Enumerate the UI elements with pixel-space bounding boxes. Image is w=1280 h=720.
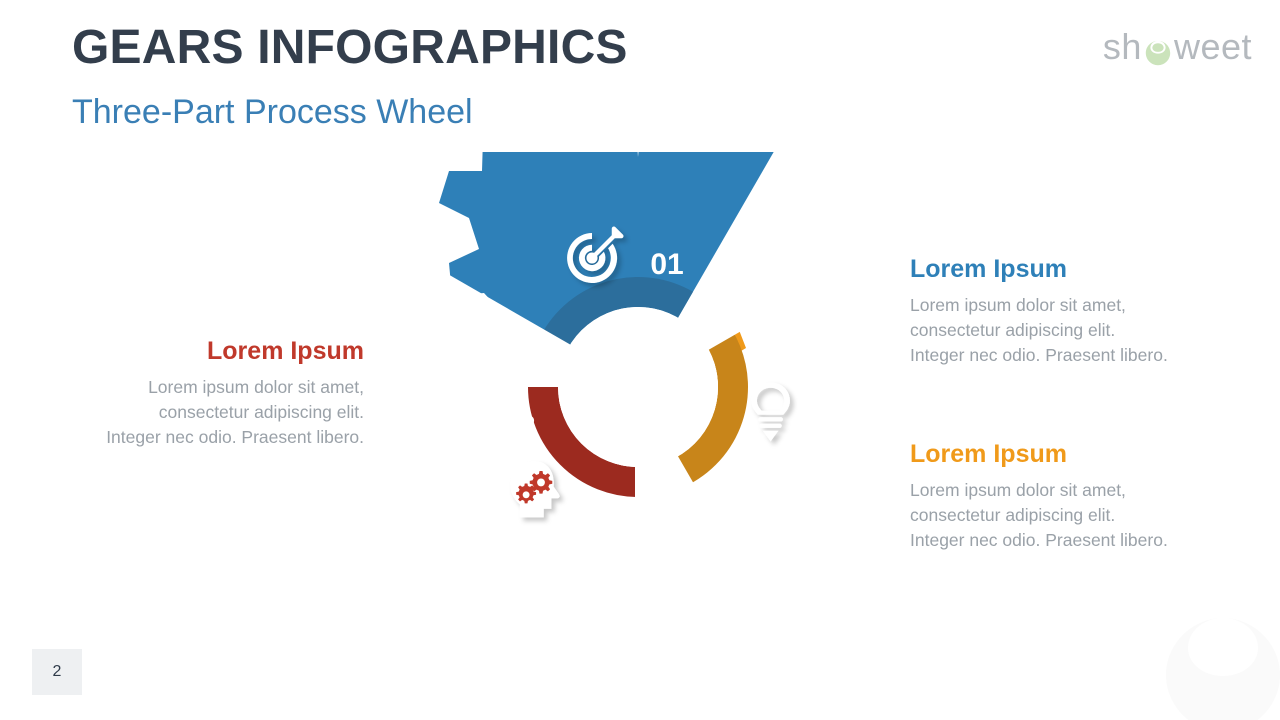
page-subtitle: Three-Part Process Wheel: [72, 92, 473, 133]
text-block-left-red: Lorem Ipsum Lorem ipsum dolor sit amet, …: [68, 336, 364, 450]
lightbulb-icon: [751, 382, 790, 441]
text-block-right-blue: Lorem Ipsum Lorem ipsum dolor sit amet, …: [910, 254, 1230, 368]
text-block-body: Lorem ipsum dolor sit amet, consectetur …: [910, 293, 1230, 368]
logo-text-after: weet: [1174, 26, 1252, 68]
text-block-body: Lorem ipsum dolor sit amet, consectetur …: [910, 478, 1230, 553]
text-block-body: Lorem ipsum dolor sit amet, consectetur …: [68, 375, 364, 450]
body-line: Lorem ipsum dolor sit amet,: [148, 377, 364, 397]
showeet-logo: sh weet: [1103, 26, 1252, 68]
body-line: consectetur adipiscing elit.: [910, 320, 1115, 340]
showeet-sprout-mark-icon: [1143, 35, 1173, 65]
gear-center-hole: [558, 307, 718, 467]
body-line: Lorem ipsum dolor sit amet,: [910, 480, 1126, 500]
body-line: consectetur adipiscing elit.: [910, 505, 1115, 525]
text-block-heading: Lorem Ipsum: [910, 439, 1230, 470]
showeet-logo-watermark-icon: [1148, 600, 1280, 720]
body-line: consectetur adipiscing elit.: [159, 402, 364, 422]
logo-text-before: sh: [1103, 26, 1142, 68]
head-gears-icon: [510, 461, 559, 517]
gear-label-03: 03: [502, 410, 535, 443]
gear-label-01: 01: [650, 248, 683, 281]
text-block-heading: Lorem Ipsum: [68, 336, 364, 367]
body-line: Integer nec odio. Praesent libero.: [106, 427, 364, 447]
body-line: Lorem ipsum dolor sit amet,: [910, 295, 1126, 315]
text-block-right-orange: Lorem Ipsum Lorem ipsum dolor sit amet, …: [910, 439, 1230, 553]
body-line: Integer nec odio. Praesent libero.: [910, 530, 1168, 550]
page-number-badge: 2: [32, 649, 82, 695]
slide-canvas: GEARS INFOGRAPHICS Three-Part Process Wh…: [0, 0, 1280, 720]
gear-wheel-diagram: 01 02 03: [395, 152, 885, 622]
gear-label-02: 02: [718, 468, 751, 501]
body-line: Integer nec odio. Praesent libero.: [910, 345, 1168, 365]
text-block-heading: Lorem Ipsum: [910, 254, 1230, 285]
page-title: GEARS INFOGRAPHICS: [72, 20, 628, 77]
